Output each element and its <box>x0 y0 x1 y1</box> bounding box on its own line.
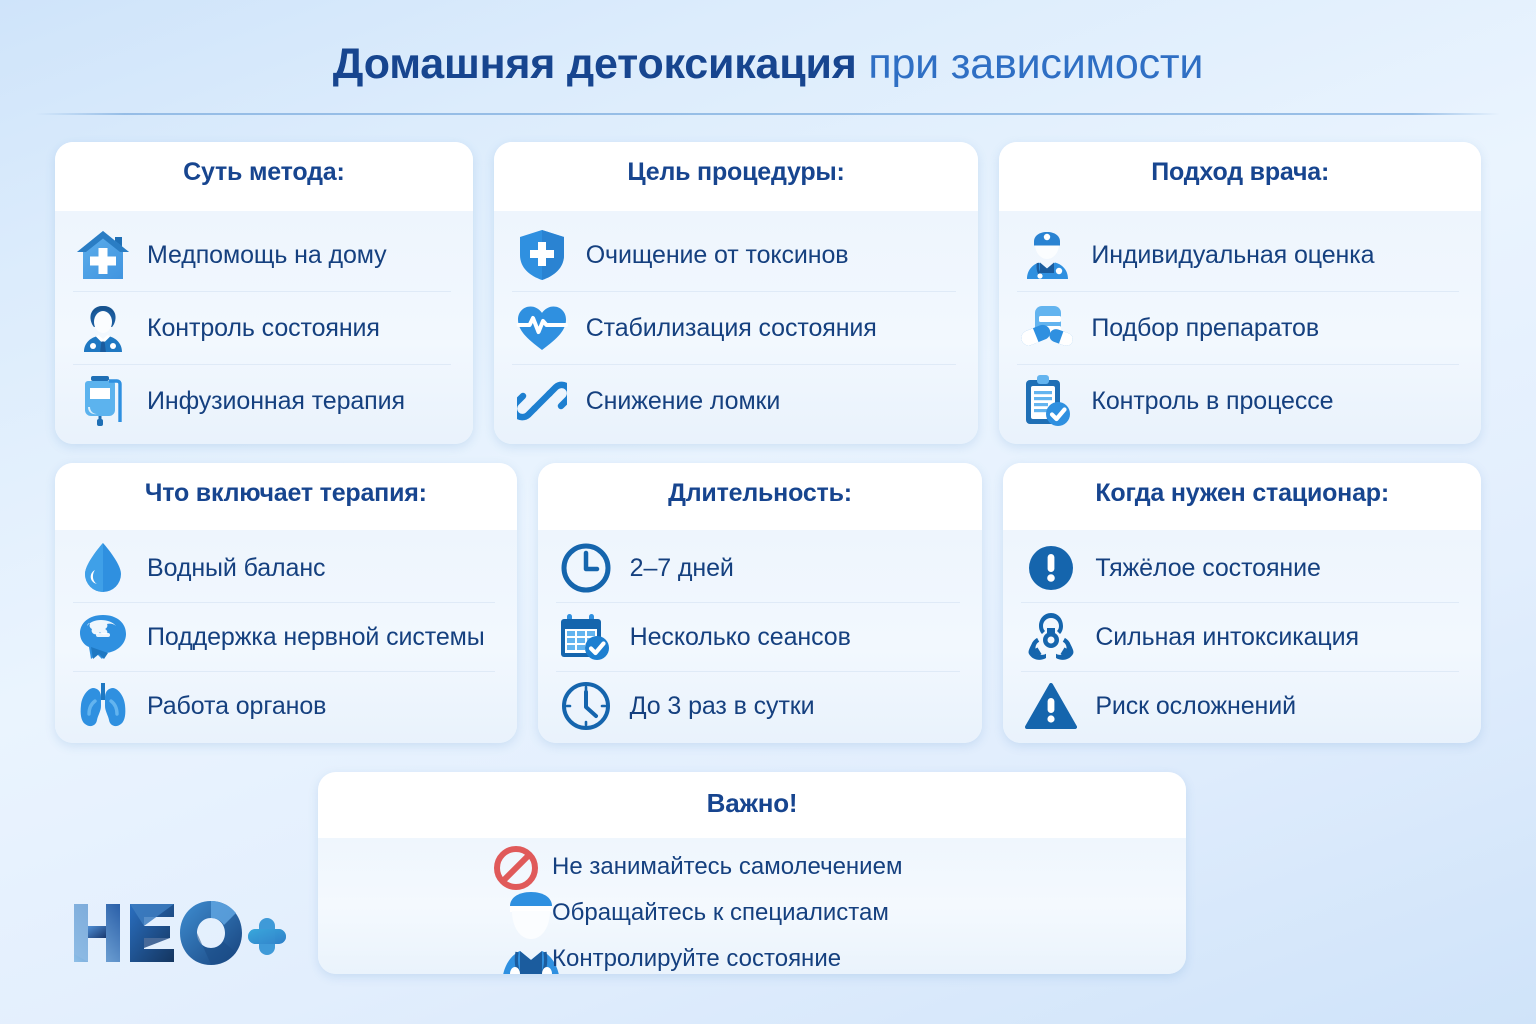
doctor-cap-icon <box>1017 226 1077 284</box>
shield-cross-icon <box>512 226 572 284</box>
list-item-label: Контролируйте состояние <box>552 945 841 973</box>
neo-plus-logo <box>72 898 288 968</box>
clipboard-check-icon <box>1017 372 1077 430</box>
water-drop-icon <box>73 539 133 597</box>
card-body: Водный баланс <box>55 530 517 743</box>
list-item[interactable]: Не занимайтесь самолечением <box>494 844 902 890</box>
list-item-label: Снижение ломки <box>586 386 781 416</box>
header-divider <box>36 113 1500 115</box>
list-item[interactable]: Сильная интоксикация <box>1021 602 1459 671</box>
list-item-label: Стабилизация состояния <box>586 313 877 343</box>
page-title: Домашняя детоксикация при зависимости <box>0 38 1536 90</box>
calendar-check-icon <box>556 608 616 666</box>
cards-grid: Суть метода: <box>55 142 1481 743</box>
card-important: Важно! <box>318 772 1186 974</box>
list-item[interactable]: Контролируйте состояние <box>494 936 902 974</box>
card-heading: Что включает терапия: <box>55 463 517 530</box>
card-kogda-nuzhen-stacionar: Когда нужен стационар: Тяжёлое состояние <box>1003 463 1481 743</box>
list-item-label: Сильная интоксикация <box>1095 622 1359 652</box>
card-sut-metoda: Суть метода: <box>55 142 473 444</box>
card-body: 2–7 дней <box>538 530 983 743</box>
card-body: Индивидуальная оценка <box>999 211 1481 444</box>
card-podhod-vracha: Подход врача: <box>999 142 1481 444</box>
list-item[interactable]: Очищение от токсинов <box>512 219 957 291</box>
list-item-label: Не занимайтесь самолечением <box>552 853 902 881</box>
list-item-label: Медпомощь на дому <box>147 240 387 270</box>
list-item[interactable]: Медпомощь на дому <box>73 219 451 291</box>
list-item-label: До 3 раз в сутки <box>630 691 815 721</box>
card-body: Очищение от токсинов Стабилизация состоя… <box>494 211 979 444</box>
list-item-label: Подбор препаратов <box>1091 313 1319 343</box>
infographic-root: Домашняя детоксикация при зависимости Су… <box>0 0 1536 1024</box>
important-list: Не занимайтесь самолечением Обращайтесь … <box>494 844 902 974</box>
list-item[interactable]: Обращайтесь к специалистам <box>494 890 902 936</box>
card-heading: Суть метода: <box>55 142 473 211</box>
list-item[interactable]: Риск осложнений <box>1021 671 1459 740</box>
list-item-label: Обращайтесь к специалистам <box>552 899 889 927</box>
list-item[interactable]: Несколько сеансов <box>556 602 961 671</box>
heart-pulse-icon <box>512 299 572 357</box>
list-item[interactable]: Инфузионная терапия <box>73 364 451 437</box>
brain-icon <box>73 608 133 666</box>
list-item[interactable]: Водный баланс <box>73 534 495 602</box>
pills-icon <box>1017 299 1077 357</box>
list-item-label: Контроль в процессе <box>1091 386 1333 416</box>
list-item[interactable]: Снижение ломки <box>512 364 957 437</box>
clock-icon <box>556 539 616 597</box>
list-item[interactable]: Подбор препаратов <box>1017 291 1459 364</box>
list-item-label: Работа органов <box>147 691 326 721</box>
card-heading: Подход врача: <box>999 142 1481 211</box>
warning-triangle-icon <box>1021 677 1081 735</box>
list-item[interactable]: 2–7 дней <box>556 534 961 602</box>
house-cross-icon <box>73 226 133 284</box>
list-item-label: Контроль состояния <box>147 313 380 343</box>
list-item[interactable]: Поддержка нервной системы <box>73 602 495 671</box>
page-title-strong: Домашняя детоксикация <box>333 40 857 88</box>
card-body: Не занимайтесь самолечением Обращайтесь … <box>318 838 1186 974</box>
list-item[interactable]: Контроль в процессе <box>1017 364 1459 437</box>
card-heading: Важно! <box>318 772 1186 838</box>
list-item[interactable]: Стабилизация состояния <box>512 291 957 364</box>
card-chto-vklyuchaet-terapiya: Что включает терапия: Водный баланс <box>55 463 517 743</box>
list-item[interactable]: До 3 раз в сутки <box>556 671 961 740</box>
list-item-label: Несколько сеансов <box>630 622 851 652</box>
biohazard-icon <box>1021 608 1081 666</box>
list-item-label: Тяжёлое состояние <box>1095 553 1320 583</box>
list-item-label: Инфузионная терапия <box>147 386 405 416</box>
list-item[interactable]: Работа органов <box>73 671 495 740</box>
list-item-label: Риск осложнений <box>1095 691 1296 721</box>
exclamation-circle-icon <box>1021 539 1081 597</box>
page-title-light: при зависимости <box>868 40 1203 88</box>
list-item-label: 2–7 дней <box>630 553 734 583</box>
chain-link-icon <box>512 372 572 430</box>
card-heading: Длительность: <box>538 463 983 530</box>
doctor-bust-icon <box>73 299 133 357</box>
card-body: Тяжёлое состояние <box>1003 530 1481 743</box>
list-item[interactable]: Индивидуальная оценка <box>1017 219 1459 291</box>
list-item-label: Очищение от токсинов <box>586 240 849 270</box>
list-item[interactable]: Тяжёлое состояние <box>1021 534 1459 602</box>
list-item-label: Поддержка нервной системы <box>147 622 485 652</box>
list-item-label: Индивидуальная оценка <box>1091 240 1374 270</box>
card-dlitelnost: Длительность: 2–7 дней <box>538 463 983 743</box>
lungs-icon <box>73 677 133 735</box>
card-heading: Цель процедуры: <box>494 142 979 211</box>
cards-row-1: Суть метода: <box>55 142 1481 444</box>
card-body: Медпомощь на дому <box>55 211 473 444</box>
cards-row-2: Что включает терапия: Водный баланс <box>55 463 1481 743</box>
list-item[interactable]: Контроль состояния <box>73 291 451 364</box>
list-item-label: Водный баланс <box>147 553 325 583</box>
card-heading: Когда нужен стационар: <box>1003 463 1481 530</box>
iv-drip-icon <box>73 372 133 430</box>
clock-icon <box>556 677 616 735</box>
card-cel-procedury: Цель процедуры: Очищение от токсинов <box>494 142 979 444</box>
